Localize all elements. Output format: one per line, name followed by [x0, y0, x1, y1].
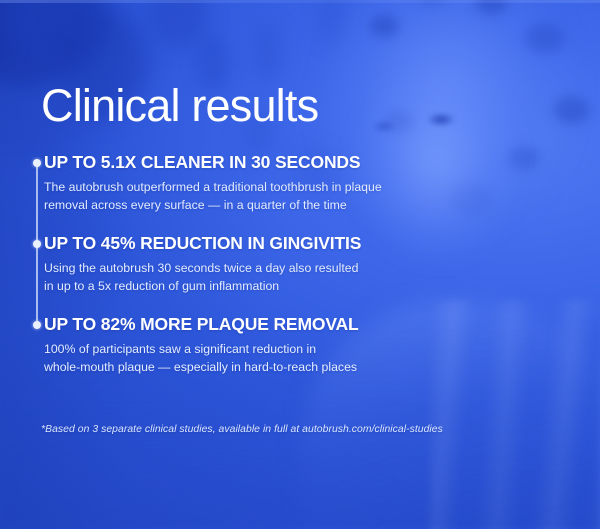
stat-body-line: in up to a 5x reduction of gum inflammat…	[44, 278, 361, 295]
stat-heading: UP TO 5.1X CLEANER IN 30 SECONDS	[44, 152, 374, 172]
timeline-dot-1	[33, 159, 41, 167]
stat-body: 100% of participants saw a significant r…	[44, 341, 359, 376]
stat-body: The autobrush outperformed a traditional…	[44, 179, 374, 214]
stat-body-line: 100% of participants saw a significant r…	[44, 341, 359, 358]
footnote-disclaimer: *Based on 3 separate clinical studies, a…	[41, 424, 443, 435]
clinical-results-poster: Clinical results UP TO 5.1X CLEANER IN 3…	[0, 0, 600, 529]
timeline-dot-3	[33, 321, 41, 329]
stat-body-line: Using the autobrush 30 seconds twice a d…	[44, 260, 361, 277]
poster-content: Clinical results UP TO 5.1X CLEANER IN 3…	[0, 0, 600, 529]
stat-body-line: The autobrush outperformed a traditional…	[44, 179, 374, 196]
timeline-dot-2	[33, 240, 41, 248]
stat-body-line: whole-mouth plaque — especially in hard-…	[44, 359, 359, 376]
stat-heading: UP TO 82% MORE PLAQUE REMOVAL	[44, 314, 359, 334]
stat-heading: UP TO 45% REDUCTION IN GINGIVITIS	[44, 233, 361, 253]
stat-block-1: UP TO 5.1X CLEANER IN 30 SECONDS The aut…	[44, 152, 374, 214]
stat-body-line: removal across every surface — in a quar…	[44, 197, 374, 214]
stat-block-2: UP TO 45% REDUCTION IN GINGIVITIS Using …	[44, 233, 361, 295]
stat-body: Using the autobrush 30 seconds twice a d…	[44, 260, 361, 295]
stat-block-3: UP TO 82% MORE PLAQUE REMOVAL 100% of pa…	[44, 314, 359, 376]
page-title: Clinical results	[41, 83, 318, 128]
